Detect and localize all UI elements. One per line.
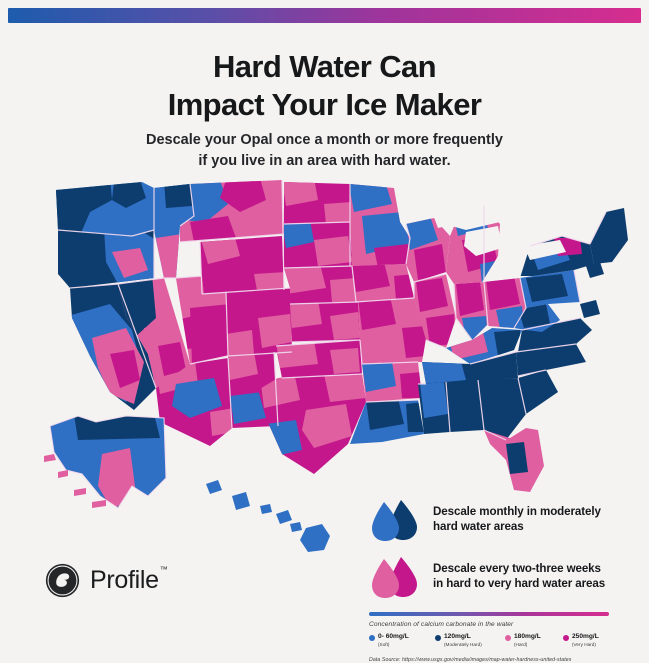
region-minnesota <box>346 178 416 270</box>
swatch-value-very-hard: 250mg/L <box>572 633 599 641</box>
region-north-dakota <box>280 178 354 228</box>
swatch-label-very-hard: (Very Hard) <box>572 641 599 648</box>
brand-name: Profile™ <box>90 566 166 595</box>
ge-profile-logo: Profile™ <box>45 563 166 598</box>
title-line-2: Impact Your Ice Maker <box>0 86 649 124</box>
swatch-label-moderately-hard: (Moderately Hard) <box>444 641 482 648</box>
scale-caption: Concentration of calcium carbonate in th… <box>369 621 631 628</box>
region-florida <box>480 424 550 498</box>
page-subtitle: Descale your Opal once a month or more f… <box>0 130 649 172</box>
ge-monogram-icon <box>45 563 80 598</box>
swatch-dot-moderately-hard <box>435 635 441 641</box>
legend-hard-line-2: in hard to very hard water areas <box>433 576 605 591</box>
subtitle-line-2: if you live in an area with hard water. <box>0 151 649 172</box>
legend-panel: Descale monthly in moderately hard water… <box>369 498 631 663</box>
swatch-dot-hard <box>505 635 511 641</box>
swatch-label-soft: (Soft) <box>378 641 409 648</box>
legend-row-hard: Descale every two-three weeks in hard to… <box>369 555 631 599</box>
swatch-dot-soft <box>369 635 375 641</box>
hardness-scale-bar <box>369 612 609 616</box>
hardness-swatch-list: 0- 60mg/L (Soft) 120mg/L (Moderately Har… <box>369 633 613 648</box>
region-kansas <box>286 298 364 346</box>
blue-water-drops-icon <box>369 498 421 542</box>
region-south-dakota <box>280 220 354 270</box>
region-nebraska <box>280 264 360 306</box>
data-source-note: Data Source: https://www.usgs.gov/media/… <box>369 657 631 663</box>
legend-row-moderate: Descale monthly in moderately hard water… <box>369 498 631 542</box>
region-arkansas <box>358 358 426 406</box>
infographic-page: Hard Water Can Impact Your Ice Maker Des… <box>0 0 649 654</box>
swatch-value-moderately-hard: 120mg/L <box>444 633 482 641</box>
region-hawaii <box>206 480 330 552</box>
region-texas <box>254 370 374 480</box>
trademark-mark: ™ <box>160 565 168 574</box>
legend-moderate-line-1: Descale monthly in moderately <box>433 504 601 519</box>
swatch-moderately-hard: 120mg/L (Moderately Hard) <box>435 633 505 648</box>
swatch-value-hard: 180mg/L <box>514 633 541 641</box>
swatch-very-hard: 250mg/L (Very Hard) <box>563 633 613 648</box>
swatch-label-hard: (Hard) <box>514 641 541 648</box>
swatch-soft: 0- 60mg/L (Soft) <box>369 633 435 648</box>
region-delmarva <box>580 300 600 318</box>
swatch-hard: 180mg/L (Hard) <box>505 633 563 648</box>
swatch-value-soft: 0- 60mg/L <box>378 633 409 641</box>
page-title: Hard Water Can Impact Your Ice Maker <box>0 48 649 124</box>
title-line-1: Hard Water Can <box>0 48 649 86</box>
legend-hard-line-1: Descale every two-three weeks <box>433 561 605 576</box>
subtitle-line-1: Descale your Opal once a month or more f… <box>0 130 649 151</box>
top-gradient-bar <box>8 8 641 23</box>
legend-moderate-line-2: hard water areas <box>433 519 601 534</box>
swatch-dot-very-hard <box>563 635 569 641</box>
pink-water-drops-icon <box>369 555 421 599</box>
legend-text-moderate: Descale monthly in moderately hard water… <box>433 498 601 534</box>
legend-text-hard: Descale every two-three weeks in hard to… <box>433 555 605 591</box>
